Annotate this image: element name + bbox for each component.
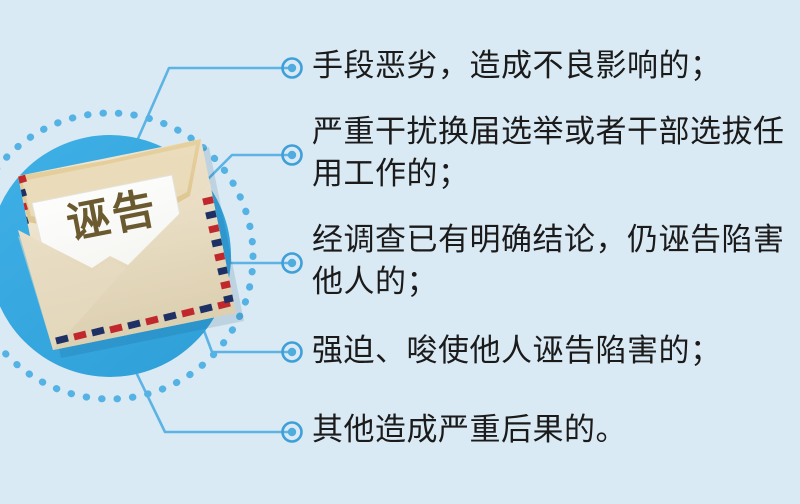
list-item: 手段恶劣，造成不良影响的； xyxy=(312,45,796,87)
list-item: 经调查已有明确结论，仍诬告陷害他人的； xyxy=(312,219,796,303)
infographic-canvas: 诬告 手段恶劣， xyxy=(0,0,800,504)
list-item: 严重干扰换届选举或者干部选拔任用工作的； xyxy=(312,111,796,195)
list-item: 强迫、唆使他人诬告陷害的； xyxy=(312,330,796,372)
consequence-list: 手段恶劣，造成不良影响的； 严重干扰换届选举或者干部选拔任用工作的； 经调查已有… xyxy=(0,0,800,504)
list-item: 其他造成严重后果的。 xyxy=(312,409,796,451)
